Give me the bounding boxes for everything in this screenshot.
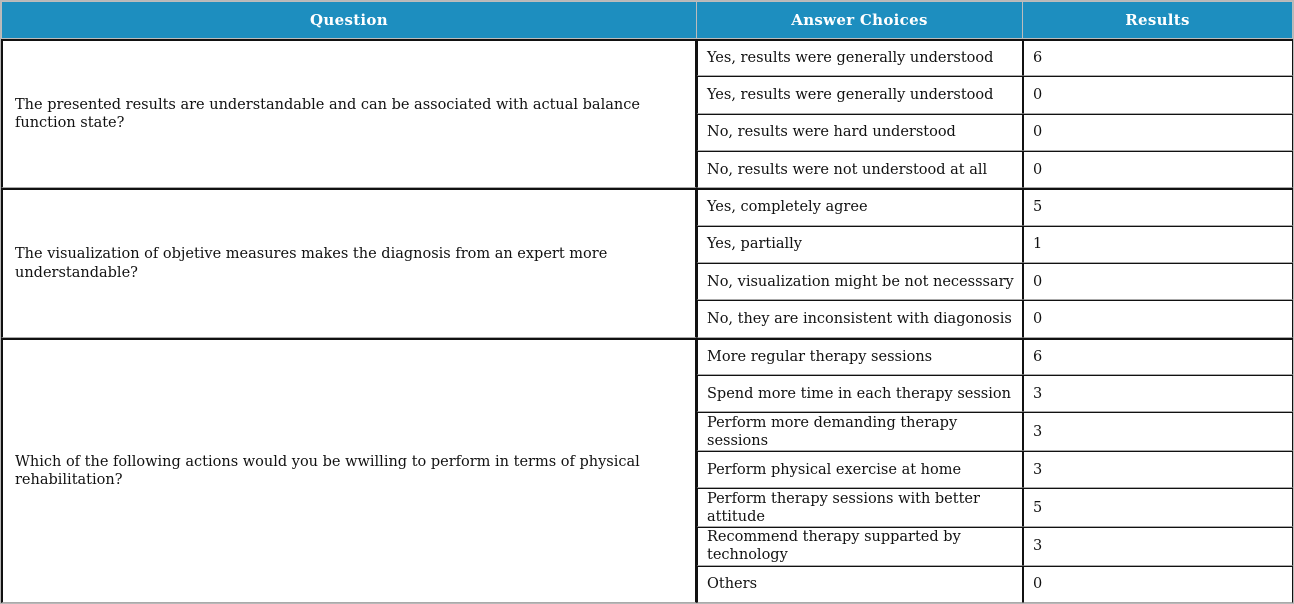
result-value: 0 xyxy=(1033,273,1284,291)
answer-choice-cell: Recommend therapy supparted by technolog… xyxy=(697,527,1023,566)
question-cell: The visualization of objetive measures m… xyxy=(1,188,697,337)
result-value: 0 xyxy=(1033,310,1284,328)
result-value: 3 xyxy=(1033,461,1284,479)
result-cell: 3 xyxy=(1023,451,1293,488)
result-value: 5 xyxy=(1033,198,1284,216)
answer-choice-text: Yes, results were generally understood xyxy=(707,49,1014,67)
answer-choice-text: More regular therapy sessions xyxy=(707,348,1014,366)
column-header-question: Question xyxy=(1,1,697,39)
table-body: The presented results are understandable… xyxy=(1,39,1293,603)
question-cell: The presented results are understandable… xyxy=(1,39,697,188)
answer-choice-cell: Others xyxy=(697,566,1023,603)
result-cell: 0 xyxy=(1023,300,1293,337)
answer-choice-cell: No, they are inconsistent with diagonosi… xyxy=(697,300,1023,337)
answer-choice-text: Recommend therapy supparted by technolog… xyxy=(707,528,1014,564)
answer-choice-cell: Yes, results were generally understood xyxy=(697,76,1023,113)
question-text: Which of the following actions would you… xyxy=(15,453,685,489)
question-text: The presented results are understandable… xyxy=(15,96,685,132)
answer-choice-text: Perform physical exercise at home xyxy=(707,461,1014,479)
answer-choice-cell: No, results were not understood at all xyxy=(697,151,1023,188)
table-header: Question Answer Choices Results xyxy=(1,1,1293,39)
result-value: 3 xyxy=(1033,537,1284,555)
table-row: The presented results are understandable… xyxy=(1,39,1293,76)
table-header-row: Question Answer Choices Results xyxy=(1,1,1293,39)
answer-choice-cell: Yes, partially xyxy=(697,226,1023,263)
result-cell: 0 xyxy=(1023,76,1293,113)
answer-choice-cell: Perform physical exercise at home xyxy=(697,451,1023,488)
result-cell: 6 xyxy=(1023,39,1293,76)
result-cell: 1 xyxy=(1023,226,1293,263)
table-row: The visualization of objetive measures m… xyxy=(1,188,1293,225)
answer-choice-cell: No, visualization might be not necesssar… xyxy=(697,263,1023,300)
column-header-results: Results xyxy=(1023,1,1293,39)
result-cell: 3 xyxy=(1023,527,1293,566)
result-value: 3 xyxy=(1033,385,1284,403)
result-value: 1 xyxy=(1033,235,1284,253)
answer-choice-text: No, they are inconsistent with diagonosi… xyxy=(707,310,1014,328)
answer-choice-text: Yes, results were generally understood xyxy=(707,86,1014,104)
question-cell: Which of the following actions would you… xyxy=(1,338,697,603)
result-value: 0 xyxy=(1033,123,1284,141)
answer-choice-cell: Yes, results were generally understood xyxy=(697,39,1023,76)
answer-choice-text: Perform more demanding therapy sessions xyxy=(707,414,1014,450)
result-value: 5 xyxy=(1033,499,1284,517)
result-value: 0 xyxy=(1033,86,1284,104)
answer-choice-cell: Perform therapy sessions with better att… xyxy=(697,488,1023,527)
answer-choice-cell: More regular therapy sessions xyxy=(697,338,1023,375)
result-cell: 3 xyxy=(1023,412,1293,451)
answer-choice-cell: Yes, completely agree xyxy=(697,188,1023,225)
result-cell: 3 xyxy=(1023,375,1293,412)
result-cell: 0 xyxy=(1023,114,1293,151)
answer-choice-cell: No, results were hard understood xyxy=(697,114,1023,151)
result-cell: 0 xyxy=(1023,263,1293,300)
result-value: 6 xyxy=(1033,348,1284,366)
question-text: The visualization of objetive measures m… xyxy=(15,245,685,281)
answer-choice-text: Yes, completely agree xyxy=(707,198,1014,216)
answer-choice-cell: Spend more time in each therapy session xyxy=(697,375,1023,412)
result-value: 6 xyxy=(1033,49,1284,67)
answer-choice-text: Spend more time in each therapy session xyxy=(707,385,1014,403)
result-cell: 5 xyxy=(1023,488,1293,527)
result-cell: 6 xyxy=(1023,338,1293,375)
answer-choice-text: No, results were hard understood xyxy=(707,123,1014,141)
answer-choice-text: Others xyxy=(707,575,1014,593)
answer-choice-cell: Perform more demanding therapy sessions xyxy=(697,412,1023,451)
answer-choice-text: Yes, partially xyxy=(707,235,1014,253)
answer-choice-text: Perform therapy sessions with better att… xyxy=(707,490,1014,526)
result-value: 0 xyxy=(1033,575,1284,593)
result-cell: 0 xyxy=(1023,566,1293,603)
answer-choice-text: No, results were not understood at all xyxy=(707,161,1014,179)
survey-results-table-container: Question Answer Choices Results The pres… xyxy=(0,0,1294,604)
column-header-answer-choices: Answer Choices xyxy=(697,1,1023,39)
result-cell: 5 xyxy=(1023,188,1293,225)
table-row: Which of the following actions would you… xyxy=(1,338,1293,375)
survey-results-table: Question Answer Choices Results The pres… xyxy=(1,1,1293,603)
answer-choice-text: No, visualization might be not necesssar… xyxy=(707,273,1014,291)
result-value: 3 xyxy=(1033,423,1284,441)
result-cell: 0 xyxy=(1023,151,1293,188)
result-value: 0 xyxy=(1033,161,1284,179)
